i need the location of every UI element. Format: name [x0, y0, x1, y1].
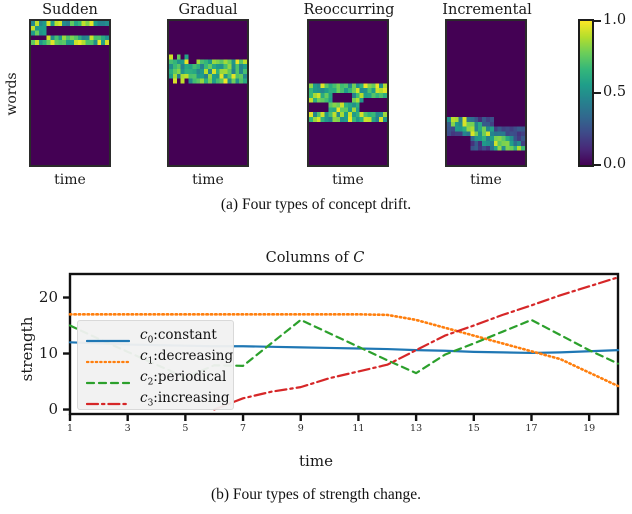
legend-label-2: c2:periodical: [140, 369, 226, 388]
legend-label-3: c3:increasing: [140, 390, 230, 409]
xtick-1: 1: [56, 423, 84, 434]
heatmap-incremental: [445, 19, 527, 167]
heatmap-xlabel-gradual: time: [168, 172, 248, 188]
legend-swatch-1: [86, 352, 130, 363]
heatmap-title-sudden: Sudden: [22, 2, 118, 18]
heatmap-xlabel-incremental: time: [446, 172, 526, 188]
heatmap-title-reoccurring: Reoccurring: [294, 2, 404, 18]
colorbar-tick-top: [594, 20, 601, 22]
colorbar-gradient: [580, 21, 592, 165]
xtick-7: 7: [229, 423, 257, 434]
xtick-3: 3: [114, 423, 142, 434]
ytick-0: 0: [20, 400, 58, 418]
ytick-10: 10: [20, 344, 58, 362]
caption-panel-b: (b) Four types of strength change.: [0, 486, 632, 504]
colorbar-tick-middle: [594, 92, 601, 94]
xtick-15: 15: [460, 423, 488, 434]
series-line-3: [214, 277, 618, 409]
xtick-17: 17: [517, 423, 545, 434]
legend-swatch-2: [86, 373, 130, 384]
caption-panel-a: (a) Four types of concept drift.: [0, 196, 632, 214]
heatmap-sudden: [29, 19, 111, 167]
heatmap-gradual: [167, 19, 249, 167]
ytick-20: 20: [20, 288, 58, 306]
heatmap-title-incremental: Incremental: [432, 2, 542, 18]
xtick-11: 11: [344, 423, 372, 434]
heatmap-xlabel-reoccurring: time: [308, 172, 388, 188]
xtick-9: 9: [287, 423, 315, 434]
legend-item-0[interactable]: c0:constant: [86, 327, 217, 346]
legend-swatch-3: [86, 394, 130, 405]
colorbar-label-0: 0.0: [603, 156, 626, 172]
legend-swatch-0: [86, 331, 130, 342]
chart-title: Columns of C: [70, 250, 560, 266]
legend-item-1[interactable]: c1:decreasing: [86, 348, 233, 367]
heatmap-title-gradual: Gradual: [160, 2, 256, 18]
colorbar: [578, 19, 594, 167]
colorbar-tick-bottom: [594, 164, 601, 166]
legend-item-2[interactable]: c2:periodical: [86, 369, 226, 388]
figure-root: Sudden Gradual Reoccurring Incremental w…: [0, 0, 632, 514]
chart-xlabel: time: [0, 452, 632, 470]
chart-title-text: Columns of C: [266, 250, 365, 266]
xtick-5: 5: [171, 423, 199, 434]
colorbar-label-1: 1.0: [603, 12, 626, 28]
colorbar-label-0-5: 0.5: [603, 84, 626, 100]
heatmap-ylabel-words: words: [4, 64, 20, 124]
xtick-19: 19: [575, 423, 603, 434]
legend-label-1: c1:decreasing: [140, 348, 233, 367]
xtick-13: 13: [402, 423, 430, 434]
legend-label-0: c0:constant: [140, 327, 217, 346]
heatmap-reoccurring: [307, 19, 389, 167]
legend-item-3[interactable]: c3:increasing: [86, 390, 230, 409]
heatmap-xlabel-sudden: time: [30, 172, 110, 188]
